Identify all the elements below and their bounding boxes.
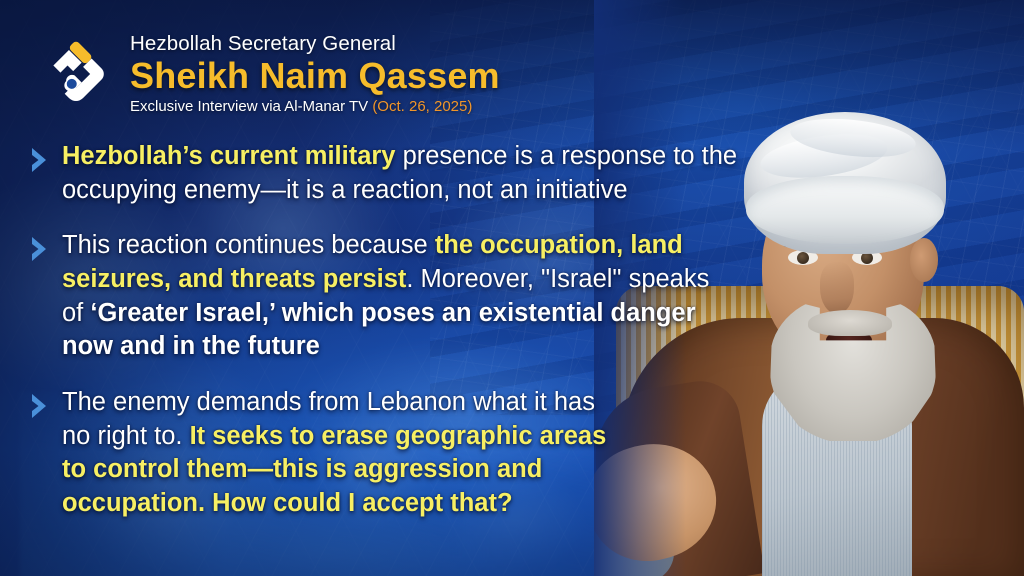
header: Hezbollah Secretary General Sheikh Naim … [40, 34, 500, 114]
moustache [808, 310, 892, 336]
quote-list: Hezbollah’s current military presence is… [28, 140, 764, 543]
hezbollah-diamond-logo-icon [40, 38, 112, 110]
broadcast-graphic: Hezbollah Secretary General Sheikh Naim … [0, 0, 1024, 576]
turban-lower-band [746, 176, 944, 244]
quote-item: The enemy demands from Lebanon what it h… [28, 386, 764, 521]
chevron-right-icon [28, 146, 52, 174]
chevron-right-icon [28, 235, 52, 263]
quote-text: The enemy demands from Lebanon what it h… [62, 386, 622, 521]
quote-item: Hezbollah’s current military presence is… [28, 140, 764, 207]
nose [820, 262, 854, 314]
quote-text: Hezbollah’s current military presence is… [62, 140, 764, 207]
header-subline: Exclusive Interview via Al-Manar TV (Oct… [130, 99, 500, 114]
subline-source: Exclusive Interview via Al-Manar TV [130, 98, 372, 115]
speaker-name: Sheikh Naim Qassem [130, 58, 500, 94]
quote-plain: This reaction continues because [62, 231, 435, 259]
header-kicker: Hezbollah Secretary General [130, 34, 500, 55]
quote-highlight-white: ‘Greater Israel,’ which poses an existen… [62, 299, 696, 361]
quote-item: This reaction continues because the occu… [28, 229, 764, 364]
quote-text: This reaction continues because the occu… [62, 229, 722, 364]
ear [910, 238, 938, 282]
chevron-right-icon [28, 392, 52, 420]
subline-date: (Oct. 26, 2025) [372, 98, 472, 115]
header-text-block: Hezbollah Secretary General Sheikh Naim … [130, 34, 500, 114]
quote-highlight-yellow: Hezbollah’s current military [62, 142, 395, 170]
